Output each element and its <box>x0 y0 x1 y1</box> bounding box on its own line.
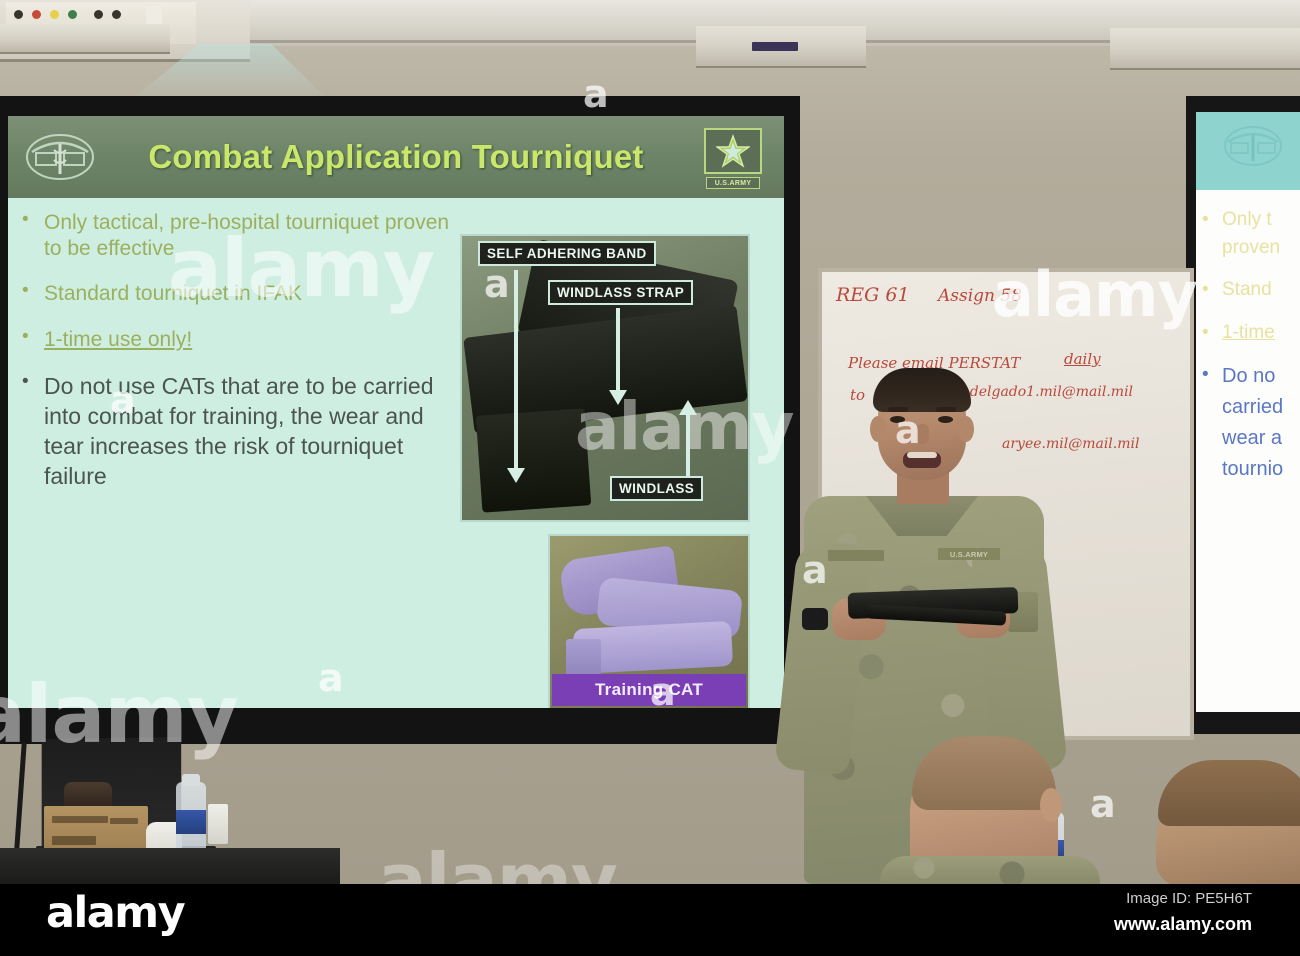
audience-head-right-hair <box>1158 760 1300 826</box>
bullet-text: Do no <box>1222 363 1275 389</box>
photo-label-windlass: WINDLASS <box>610 476 703 501</box>
screen-valance-right <box>1110 28 1300 70</box>
bullet-text: Standard tourniquet in IFAK <box>44 281 302 307</box>
army-star-box <box>704 128 762 174</box>
army-logo: U.S.ARMY <box>704 128 762 190</box>
army-star-icon <box>716 134 750 168</box>
presenter-eye-left <box>890 416 905 423</box>
bullet-text: 1-time <box>1222 321 1275 344</box>
valance-brand-logo <box>752 42 798 51</box>
bullet-text: tournio <box>1222 456 1283 482</box>
image-id-label: Image ID: PE5H6T <box>1126 890 1252 907</box>
bullet-marker: • <box>1202 278 1222 301</box>
slide-bullet-list: • Only tactical, pre-hospital tourniquet… <box>22 210 452 512</box>
presenter-wristwatch <box>802 608 828 630</box>
secondary-slide: • Only t proven • Stand • 1-time • Do <box>1196 112 1300 712</box>
screen-valance-center <box>696 26 866 68</box>
bullet-marker <box>1202 425 1222 451</box>
secondary-bullet-4c: wear a <box>1202 425 1300 451</box>
whiteboard-line-1: REG 61 <box>836 284 910 306</box>
watermark-bar <box>0 884 1300 956</box>
arrow-head-windlass-strap <box>609 390 627 405</box>
audience-shoulder-front <box>880 856 1100 886</box>
projection-screen-secondary: • Only t proven • Stand • 1-time • Do <box>1186 96 1300 734</box>
presenter-nose <box>916 424 929 444</box>
arrow-head-windlass <box>679 400 697 415</box>
slide-bullet-3: • 1-time use only! <box>22 327 452 353</box>
training-cat-banner: Training CAT <box>552 674 746 706</box>
slide-title: Combat Application Tourniquet <box>8 116 784 198</box>
presenter-army-tape: U.S.ARMY <box>938 548 1000 560</box>
alamy-logo: alamy <box>46 888 184 938</box>
water-bottle-cap <box>182 774 200 786</box>
bullet-marker: • <box>22 210 44 261</box>
secondary-bullet-4: • Do no <box>1202 363 1300 389</box>
presenter-ear-right <box>958 416 974 442</box>
bullet-text: Only t <box>1222 208 1272 231</box>
secondary-bullet-1: • Only t <box>1202 208 1300 231</box>
bullet-marker: • <box>22 281 44 307</box>
bullet-text: Do not use CATs that are to be carried i… <box>44 372 452 492</box>
bullet-text: Only tactical, pre-hospital tourniquet p… <box>44 210 452 261</box>
arrow-head-self-adhering-band <box>507 468 525 483</box>
presenter-brow-right <box>936 407 956 412</box>
bullet-marker: • <box>22 372 44 492</box>
photo-label-windlass-strap: WINDLASS STRAP <box>548 280 693 305</box>
tourniquet-buckle-shape <box>476 408 591 512</box>
secondary-bullet-1b: proven <box>1202 236 1300 259</box>
audience-head-front-ear <box>1040 788 1062 822</box>
presenter-name-tape <box>828 550 884 561</box>
secondary-bullet-4b: carried <box>1202 394 1300 420</box>
bullet-text: wear a <box>1222 425 1282 451</box>
secondary-bullet-3: • 1-time <box>1202 321 1300 344</box>
secondary-bullet-2: • Stand <box>1202 278 1300 301</box>
bullet-marker <box>1202 456 1222 482</box>
bullet-marker: • <box>1202 363 1222 389</box>
presenter-ear-left <box>870 416 886 442</box>
bullet-marker: • <box>22 327 44 353</box>
bullet-text: proven <box>1222 236 1280 259</box>
bullet-marker: • <box>1202 321 1222 344</box>
arrow-line-self-adhering-band <box>514 270 518 470</box>
paper-cup <box>208 804 228 844</box>
whiteboard-line-4: daily <box>1064 350 1101 368</box>
army-logo-caption: U.S.ARMY <box>706 177 760 189</box>
bullet-text: 1-time use only! <box>44 327 192 353</box>
presenter-teeth <box>907 452 937 458</box>
arrow-line-windlass <box>686 412 690 478</box>
presenter-brow-left <box>888 407 908 412</box>
slide-bullet-1: • Only tactical, pre-hospital tourniquet… <box>22 210 452 261</box>
table-surface <box>0 848 340 884</box>
slide-bullet-2: • Standard tourniquet in IFAK <box>22 281 452 307</box>
photograph-scene: Combat Application Tourniquet U.S.ARMY •… <box>0 0 1300 956</box>
bullet-marker: • <box>1202 208 1222 231</box>
secondary-bullet-list: • Only t proven • Stand • 1-time • Do <box>1202 208 1300 501</box>
slide-bullet-4: • Do not use CATs that are to be carried… <box>22 372 452 492</box>
combat-medical-badge-icon-secondary <box>1222 124 1284 168</box>
arrow-line-windlass-strap <box>616 308 620 392</box>
training-cat-photo: Training CAT <box>548 534 750 708</box>
screen-valance-left <box>0 24 170 54</box>
whiteboard-line-2: Assign 58 <box>938 286 1022 306</box>
presenter-eye-right <box>938 416 953 423</box>
secondary-bullet-4d: tournio <box>1202 456 1300 482</box>
presentation-slide: Combat Application Tourniquet U.S.ARMY •… <box>8 116 784 708</box>
photo-label-self-adhering-band: SELF ADHERING BAND <box>478 241 656 266</box>
alamy-url: www.alamy.com <box>1114 914 1252 935</box>
bullet-text: carried <box>1222 394 1283 420</box>
bullet-marker <box>1202 236 1222 259</box>
bullet-text: Stand <box>1222 278 1272 301</box>
projection-screen-main: Combat Application Tourniquet U.S.ARMY •… <box>0 96 800 744</box>
water-bottle-label <box>176 810 206 834</box>
tourniquet-photo-top: SELF ADHERING BAND WINDLASS STRAP WINDLA… <box>460 234 750 522</box>
presenter-hair <box>873 368 971 412</box>
bullet-marker <box>1202 394 1222 420</box>
